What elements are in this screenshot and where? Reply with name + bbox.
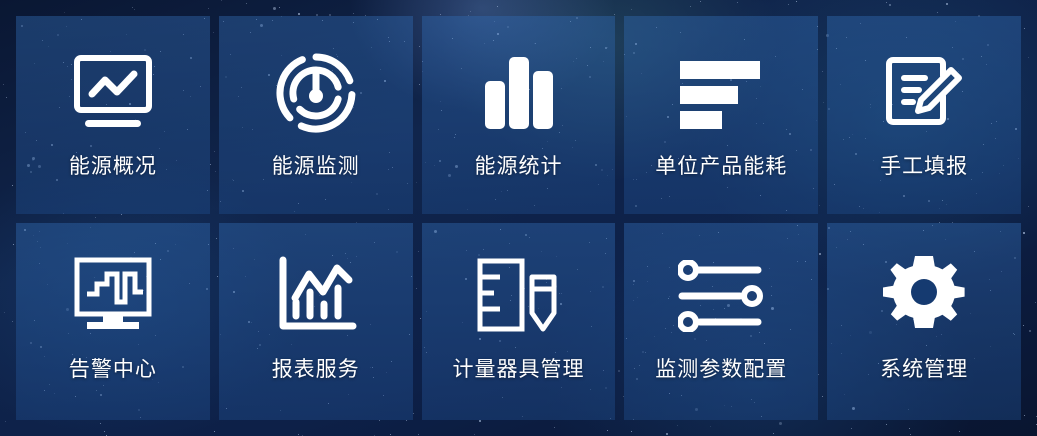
gauge-dial-icon — [275, 50, 357, 136]
tile-monitor-parameter-config[interactable]: 监测参数配置 — [624, 223, 818, 421]
tile-energy-overview[interactable]: 能源概况 — [16, 16, 210, 214]
gear-icon — [882, 253, 966, 339]
bar-chart-icon — [477, 50, 559, 136]
tile-metering-device-management[interactable]: 计量器具管理 — [422, 223, 616, 421]
tile-manual-entry[interactable]: 手工填报 — [827, 16, 1021, 214]
monitor-waveform-icon — [73, 253, 153, 339]
monitor-line-chart-icon — [73, 50, 153, 136]
tile-label: 报表服务 — [272, 353, 360, 383]
horizontal-bar-chart-icon — [678, 50, 764, 136]
tile-unit-product-energy[interactable]: 单位产品能耗 — [624, 16, 818, 214]
tile-label: 能源监测 — [272, 150, 360, 180]
tile-report-service[interactable]: 报表服务 — [219, 223, 413, 421]
sliders-icon — [678, 253, 764, 339]
document-pencil-icon — [883, 50, 965, 136]
tile-system-management[interactable]: 系统管理 — [827, 223, 1021, 421]
app-menu-screen: 能源概况 能源监测 能源统计 — [0, 0, 1037, 436]
module-tile-grid: 能源概况 能源监测 能源统计 — [16, 16, 1021, 420]
tile-alarm-center[interactable]: 告警中心 — [16, 223, 210, 421]
ruler-pencil-icon — [476, 253, 560, 339]
tile-label: 手工填报 — [880, 150, 968, 180]
tile-label: 计量器具管理 — [452, 353, 584, 383]
tile-label: 能源概况 — [69, 150, 157, 180]
tile-label: 单位产品能耗 — [655, 150, 787, 180]
tile-label: 系统管理 — [880, 353, 968, 383]
tile-energy-statistics[interactable]: 能源统计 — [422, 16, 616, 214]
tile-energy-monitoring[interactable]: 能源监测 — [219, 16, 413, 214]
tile-label: 告警中心 — [69, 353, 157, 383]
tile-label: 监测参数配置 — [655, 353, 787, 383]
tile-label: 能源统计 — [474, 150, 562, 180]
axis-chart-icon — [275, 253, 357, 339]
